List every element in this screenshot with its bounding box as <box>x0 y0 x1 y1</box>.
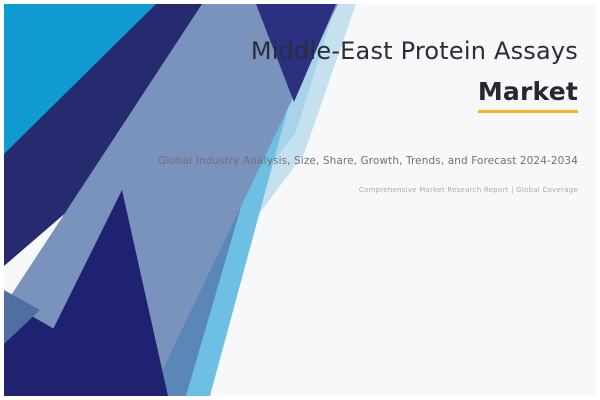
accent-title: Market <box>478 78 578 114</box>
page-title: Middle-East Protein Assays <box>158 38 578 66</box>
accent-title-wrapper: Market <box>158 78 578 114</box>
cover-canvas: Middle-East Protein Assays Market Global… <box>4 4 596 396</box>
subtitle: Global Industry Analysis, Size, Share, G… <box>158 153 578 169</box>
report-cover: Middle-East Protein Assays Market Global… <box>0 0 600 400</box>
tagline: Comprehensive Market Research Report | G… <box>158 186 578 194</box>
cover-text-block: Middle-East Protein Assays Market Global… <box>158 38 578 194</box>
